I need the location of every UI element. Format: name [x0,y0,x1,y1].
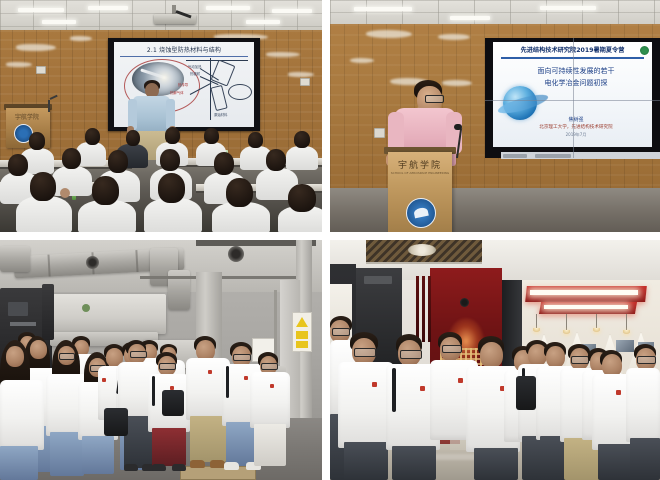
shirt-logo [270,384,274,388]
ceiling-light [88,6,128,10]
ceiling-ornament [408,244,436,256]
shirt-logo [420,386,425,391]
backpack-on-floor [104,408,128,436]
wall-glare [288,72,314,77]
shirt-logo [208,370,212,374]
student-glasses [159,363,176,370]
photo-panel-lecture-hall: 2.1 烧蚀型防热材料与结构 气动加热 热辐射 热传导 热解气体 碳化层 原始材… [0,0,322,232]
student-shorts [474,448,518,480]
student-glasses [571,356,589,364]
wall-glare [70,36,92,41]
student-shirt [250,372,290,428]
alcove-light [364,276,392,284]
audience-shoulders [52,166,92,196]
presentation-screen: 先进结构技术研究院2019暑期夏令营 面向可持续性发展的若干 电化学冶金问题初探… [485,38,660,158]
audience-head [214,152,234,175]
slide-label: 热传导 [178,82,188,87]
lectern-sublabel: SCHOOL OF AEROSPACE ENGINEERING [388,171,452,175]
duct-vent-icon [228,246,244,262]
wall-glare [438,34,470,40]
slide-affiliation: 北京理工大学，先进结构技术研究院 [511,124,641,130]
ceiling-light-strip [530,290,638,295]
speaker-glasses [425,95,444,103]
audience-head-front [288,184,316,212]
audience-head [204,128,219,144]
pendant-lamp [563,330,570,334]
ceiling-light-strip [544,305,628,309]
audience-head [8,154,28,176]
pendant-lamp [533,328,540,332]
photo-collage: 2.1 烧蚀型防热材料与结构 气动加热 热辐射 热传导 热解气体 碳化层 原始材… [0,0,660,480]
student-head [546,346,565,368]
backpack-strap [226,366,229,398]
student-head [480,342,503,368]
audience-head [160,149,180,171]
slide-title-line2: 电化学冶金问题初探 [511,78,641,88]
floor-mat [180,466,256,480]
warning-box-icon [296,341,308,348]
student-shoe [190,460,205,468]
wall-stripe [416,276,419,342]
photo-panel-podium-talk: 先进结构技术研究院2019暑期夏令营 面向可持续性发展的若干 电化学冶金问题初探… [330,0,660,232]
duct-vent-icon [86,256,99,269]
ceiling-light [272,9,312,13]
audience-head [165,127,180,144]
university-seal [406,198,436,228]
equipment-panel [10,322,36,326]
exhibit-photo [616,340,634,352]
microphone-stand [48,100,50,112]
student-trousers [82,436,114,474]
wall-glare [442,80,472,86]
warning-triangle-icon [296,317,308,327]
wall-stripe [428,276,431,342]
audience-shoulders-front [144,198,202,232]
audience-hand [60,188,70,198]
duct-seam [47,255,50,277]
audience-head [294,131,310,148]
wall-glare [266,52,300,57]
backpack-strap [152,376,155,406]
exhibition-hall-scene [330,240,660,480]
student-shorts [152,428,186,466]
equipment-indicator [82,304,90,312]
student-glasses [261,363,278,370]
ceiling-light [18,8,64,12]
audience-head [108,150,128,173]
student-shirt [626,368,660,442]
photo-panel-lab-tour [0,240,322,480]
student-glasses [400,350,422,359]
ceiling-light [450,16,490,20]
ceiling-light [42,20,76,24]
shirt-logo [102,378,106,382]
duct-seam [135,250,138,272]
shirt-logo [458,378,463,383]
student-glasses [233,354,251,361]
backpack [516,376,536,410]
backpack [162,390,184,416]
audience-head-front [226,178,253,207]
ceiling-light [246,20,280,24]
speaker-shirt [133,96,170,133]
slide-taskbar [501,152,660,159]
slide-title: 2.1 烧蚀型防热材料与结构 [122,46,246,55]
wall-stripe [422,276,425,342]
equipment-display [8,302,28,316]
slide-title-line1: 面向可持续性发展的若干 [511,66,641,76]
ceiling-tile-grid [330,0,660,26]
podium-label: 宇航学院 [4,112,50,121]
taskbar-item [503,154,527,158]
student-shoe [210,460,225,468]
student-trousers [392,446,436,480]
slide-label: 热辐射 [190,71,200,76]
slide-author: 焦树强 [523,116,629,123]
slide-date: 2019年7月 [523,132,629,138]
student-shorts [630,438,660,480]
lab-equipment-housing [46,294,166,334]
audience-head [62,148,81,169]
student-glasses [59,353,75,360]
wall-outlet [374,128,385,138]
slide-specimen-shape [228,84,252,100]
institute-logo-icon [639,45,650,56]
student-shirt [0,380,44,450]
slide-label: 原始材料 [214,112,228,117]
audience-shoulders-front [16,196,72,232]
guide-shoe [124,464,138,471]
pendant-lamp [593,328,600,332]
student-glasses [354,348,376,357]
microphone-head [454,124,462,130]
taskbar-item [535,154,571,158]
spotlight-fixture [460,298,469,307]
floor [330,188,660,232]
student-shorts [190,416,226,462]
audience-head [85,128,100,145]
shirt-logo [616,390,621,395]
podium-talk-scene: 先进结构技术研究院2019暑期夏令营 面向可持续性发展的若干 电化学冶金问题初探… [330,0,660,232]
screen-bezel-seam [573,38,574,158]
wall-glare [350,58,374,63]
lectern-label: 宇航学院 [388,158,452,171]
audience-shoulders [286,146,318,170]
screen-bezel-seam [485,100,660,101]
wall-sensor-icon [300,78,310,86]
wall-glare [6,62,32,67]
student-trousers [254,424,286,466]
equipment-column [42,284,54,340]
lab-tour-scene [0,240,322,480]
student-glasses [637,356,656,364]
shirt-logo [372,382,377,387]
student-shoe [152,464,166,471]
student-glasses [332,328,350,336]
duct-elbow [0,246,30,272]
audience-head-front [92,176,119,205]
audience-head [29,132,45,150]
audience-head [248,132,263,148]
student-trousers [0,446,38,480]
pendant-lamp [623,330,630,334]
student-shoe [172,464,186,471]
wall-glare [16,44,56,51]
slide-cone-shape [210,85,227,111]
student-head [6,346,24,367]
wall-glare [366,30,412,38]
backpack-strap [392,368,396,412]
ceiling-light [206,6,250,10]
ceiling-light [540,6,596,10]
student-shoe [224,462,239,470]
audience-head-front [30,172,56,201]
guide-glasses [130,351,147,358]
warning-box-icon [296,331,308,339]
hazard-warning-sign [292,312,312,352]
shirt-logo [244,376,248,380]
student-trousers [344,442,388,480]
audience-head [126,130,140,146]
audience-head-front [158,173,185,203]
slide-label: 热解气体 [170,90,184,95]
slide-title-rule [120,56,248,57]
ceiling-light [354,7,412,11]
student-head [30,340,47,359]
photo-panel-exhibition-hall [330,240,660,480]
audience-head [266,149,286,171]
lecture-hall-scene: 2.1 烧蚀型防热材料与结构 气动加热 热辐射 热传导 热解气体 碳化层 原始材… [0,0,322,232]
student-glasses [442,345,462,353]
wall-sensor-icon [36,66,46,74]
